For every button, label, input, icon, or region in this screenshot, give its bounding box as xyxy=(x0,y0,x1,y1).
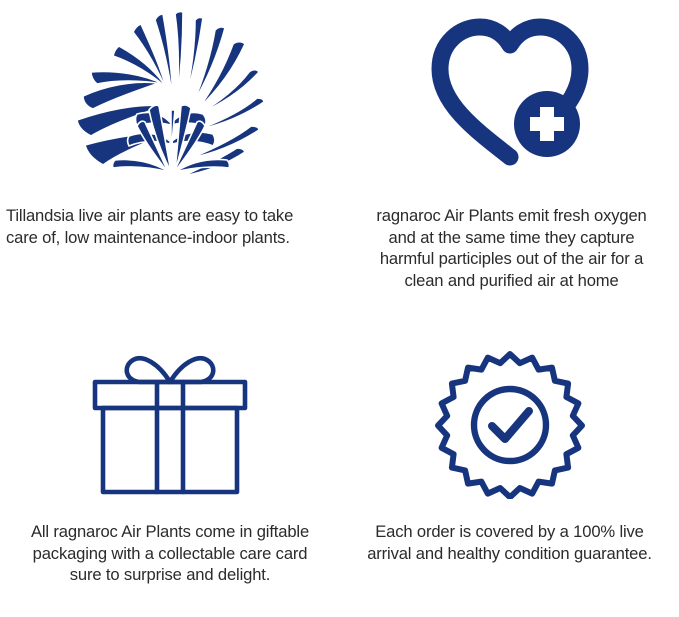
air-plant-icon xyxy=(75,10,265,178)
feature-grid: Tillandsia live air plants are easy to t… xyxy=(0,0,679,617)
gift-box-icon-wrapper xyxy=(0,309,340,499)
feature-cell-gift: All ragnaroc Air Plants come in giftable… xyxy=(0,309,340,617)
feature-text-health: ragnaroc Air Plants emit fresh oxygen an… xyxy=(340,180,679,292)
gift-box-icon xyxy=(87,348,253,500)
heart-plus-icon xyxy=(430,17,590,169)
guarantee-badge-icon xyxy=(435,349,585,499)
feature-text-air-plant: Tillandsia live air plants are easy to t… xyxy=(0,180,340,248)
heart-plus-icon-wrapper xyxy=(340,0,679,180)
air-plant-icon-wrapper xyxy=(0,0,340,180)
feature-text-gift: All ragnaroc Air Plants come in giftable… xyxy=(0,499,340,586)
feature-cell-air-plant: Tillandsia live air plants are easy to t… xyxy=(0,0,340,309)
feature-text-guarantee: Each order is covered by a 100% live arr… xyxy=(340,499,679,564)
feature-cell-guarantee: Each order is covered by a 100% live arr… xyxy=(340,309,679,617)
feature-cell-health: ragnaroc Air Plants emit fresh oxygen an… xyxy=(340,0,679,309)
guarantee-badge-icon-wrapper xyxy=(340,309,679,499)
